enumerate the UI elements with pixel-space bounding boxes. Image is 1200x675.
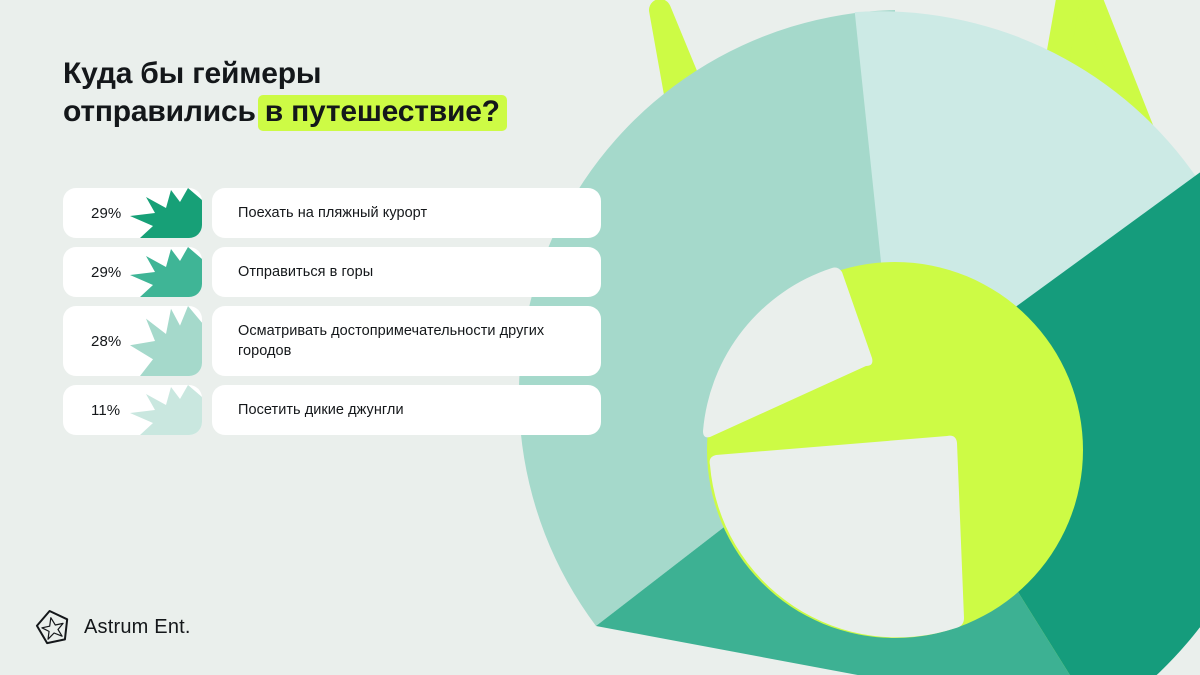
label-pill: Посетить дикие джунгли	[212, 385, 601, 435]
title-line-1: Куда бы геймеры	[63, 55, 683, 93]
legend-label: Отправиться в горы	[238, 262, 373, 282]
splat-icon	[128, 385, 202, 435]
splat-icon	[128, 306, 202, 376]
legend-row[interactable]: 28% Осматривать достопримечательности др…	[63, 306, 601, 376]
splat-icon	[128, 188, 202, 238]
legend-label: Посетить дикие джунгли	[238, 400, 404, 420]
legend-label: Осматривать достопримечательности других…	[238, 321, 575, 361]
percent-value: 28%	[63, 333, 121, 350]
label-pill: Отправиться в горы	[212, 247, 601, 297]
percent-pill: 29%	[63, 247, 202, 297]
percent-pill: 11%	[63, 385, 202, 435]
brand-logo: Astrum Ent.	[33, 607, 191, 647]
legend-row[interactable]: 29% Отправиться в горы	[63, 247, 601, 297]
legend-row[interactable]: 11% Посетить дикие джунгли	[63, 385, 601, 435]
label-pill: Осматривать достопримечательности других…	[212, 306, 601, 376]
title-line-2-plain: отправились	[63, 95, 256, 128]
pentagon-star-icon	[33, 607, 73, 647]
legend-label: Поехать на пляжный курорт	[238, 203, 427, 223]
percent-value: 29%	[63, 264, 121, 281]
legend-list: 29% Поехать на пляжный курорт 29% Отправ…	[63, 188, 601, 435]
percent-pill: 29%	[63, 188, 202, 238]
legend-row[interactable]: 29% Поехать на пляжный курорт	[63, 188, 601, 238]
splat-icon	[128, 247, 202, 297]
brand-name: Astrum Ent.	[84, 616, 191, 639]
title-highlight: в путешествие?	[258, 95, 507, 131]
title-line-2: отправилисьв путешествие?	[63, 93, 683, 131]
percent-value: 29%	[63, 205, 121, 222]
page-title: Куда бы геймеры отправилисьв путешествие…	[63, 55, 683, 131]
label-pill: Поехать на пляжный курорт	[212, 188, 601, 238]
percent-pill: 28%	[63, 306, 202, 376]
percent-value: 11%	[63, 402, 120, 419]
